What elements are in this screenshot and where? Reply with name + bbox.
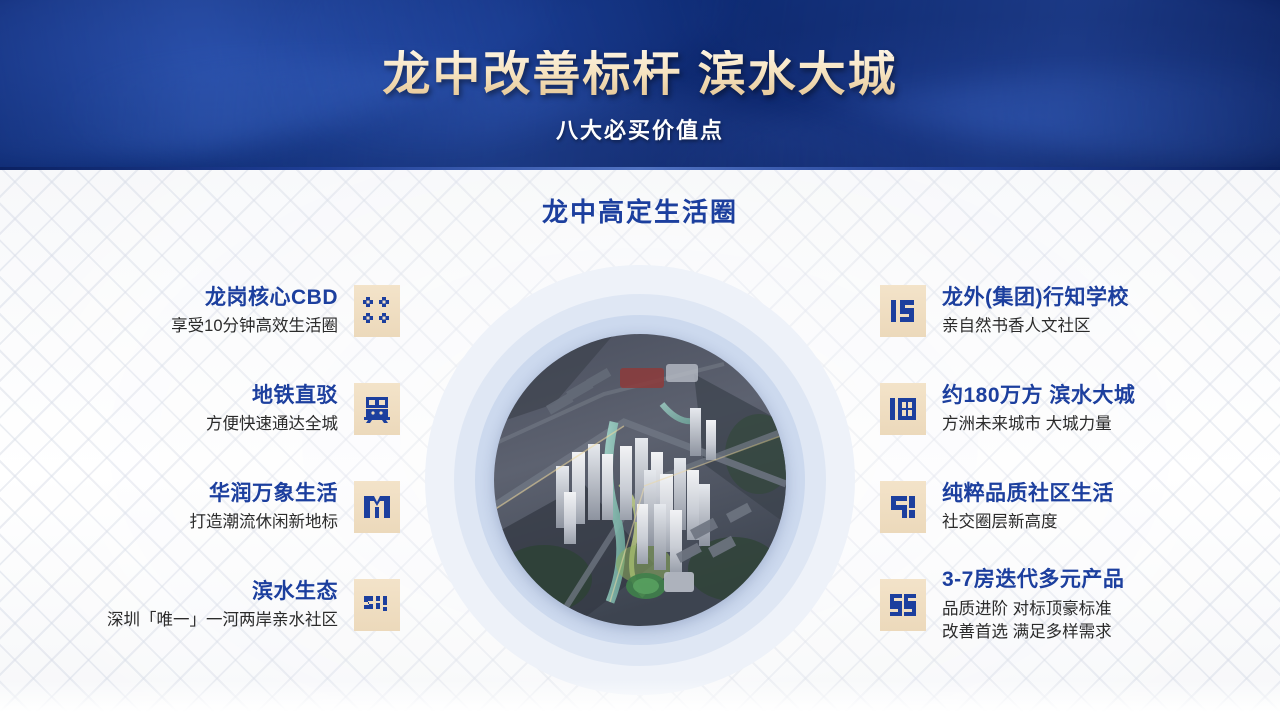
right-feature-column: 龙外(集团)行知学校 亲自然书香人文社区 约180万方 滨水大城 方洲未来城市 …: [880, 265, 1260, 657]
city-scale-icon: [880, 383, 926, 435]
feature-desc: 方洲未来城市 大城力量: [942, 414, 1135, 435]
feature-item[interactable]: 约180万方 滨水大城 方洲未来城市 大城力量: [880, 363, 1260, 455]
header-divider: [0, 167, 1280, 170]
community-icon: [880, 481, 926, 533]
product-series-icon: [880, 579, 926, 631]
feature-item[interactable]: 滨水生态 深圳「唯一」一河两岸亲水社区: [20, 559, 400, 651]
feature-text: 滨水生态 深圳「唯一」一河两岸亲水社区: [107, 579, 338, 632]
feature-text: 龙外(集团)行知学校 亲自然书香人文社区: [942, 285, 1129, 338]
feature-text: 纯粹品质社区生活 社交圈层新高度: [942, 481, 1114, 534]
feature-text: 华润万象生活 打造潮流休闲新地标: [190, 481, 339, 534]
feature-desc: 享受10分钟高效生活圈: [171, 316, 338, 337]
feature-desc: 品质进阶 对标顶豪标准: [942, 599, 1124, 620]
feature-item[interactable]: 地铁直驳 方便快速通达全城: [20, 363, 400, 455]
feature-desc: 亲自然书香人文社区: [942, 316, 1129, 337]
feature-title: 纯粹品质社区生活: [942, 481, 1114, 508]
center-visual: [390, 245, 890, 715]
feature-title: 滨水生态: [107, 579, 338, 606]
main-title: 龙中改善标杆 滨水大城: [0, 50, 1280, 100]
feature-title: 龙外(集团)行知学校: [942, 285, 1129, 312]
header-text-group: 龙中改善标杆 滨水大城 八大必买价值点: [0, 50, 1280, 145]
feature-item[interactable]: 华润万象生活 打造潮流休闲新地标: [20, 461, 400, 553]
feature-title: 3-7房迭代多元产品: [942, 567, 1124, 594]
feature-item[interactable]: 纯粹品质社区生活 社交圈层新高度: [880, 461, 1260, 553]
feature-item[interactable]: 3-7房迭代多元产品 品质进阶 对标顶豪标准 改善首选 满足多样需求: [880, 559, 1260, 651]
feature-desc: 社交圈层新高度: [942, 512, 1114, 533]
feature-text: 3-7房迭代多元产品 品质进阶 对标顶豪标准 改善首选 满足多样需求: [942, 567, 1124, 643]
mixc-mall-icon: [354, 481, 400, 533]
header-banner: 龙中改善标杆 滨水大城 八大必买价值点: [0, 0, 1280, 170]
feature-item[interactable]: 龙外(集团)行知学校 亲自然书香人文社区: [880, 265, 1260, 357]
feature-title: 约180万方 滨水大城: [942, 383, 1135, 410]
feature-desc: 方便快速通达全城: [206, 414, 338, 435]
school-book-icon: [880, 285, 926, 337]
feature-desc-2: 改善首选 满足多样需求: [942, 622, 1124, 643]
feature-title: 华润万象生活: [190, 481, 339, 508]
feature-text: 约180万方 滨水大城 方洲未来城市 大城力量: [942, 383, 1135, 436]
section-title: 龙中高定生活圈: [0, 192, 1280, 229]
four-squares-icon: [354, 285, 400, 337]
feature-title: 地铁直驳: [206, 383, 338, 410]
waterfront-icon: [354, 579, 400, 631]
aerial-render-photo: [494, 334, 786, 626]
feature-text: 龙岗核心CBD 享受10分钟高效生活圈: [171, 285, 338, 338]
content-area: 龙中高定生活圈: [0, 170, 1280, 720]
feature-desc: 深圳「唯一」一河两岸亲水社区: [107, 610, 338, 631]
feature-title: 龙岗核心CBD: [171, 285, 338, 312]
subway-train-icon: [354, 383, 400, 435]
sub-title: 八大必买价值点: [0, 113, 1280, 145]
left-feature-column: 龙岗核心CBD 享受10分钟高效生活圈: [20, 265, 400, 657]
feature-item[interactable]: 龙岗核心CBD 享受10分钟高效生活圈: [20, 265, 400, 357]
feature-desc: 打造潮流休闲新地标: [190, 512, 339, 533]
feature-text: 地铁直驳 方便快速通达全城: [206, 383, 338, 436]
